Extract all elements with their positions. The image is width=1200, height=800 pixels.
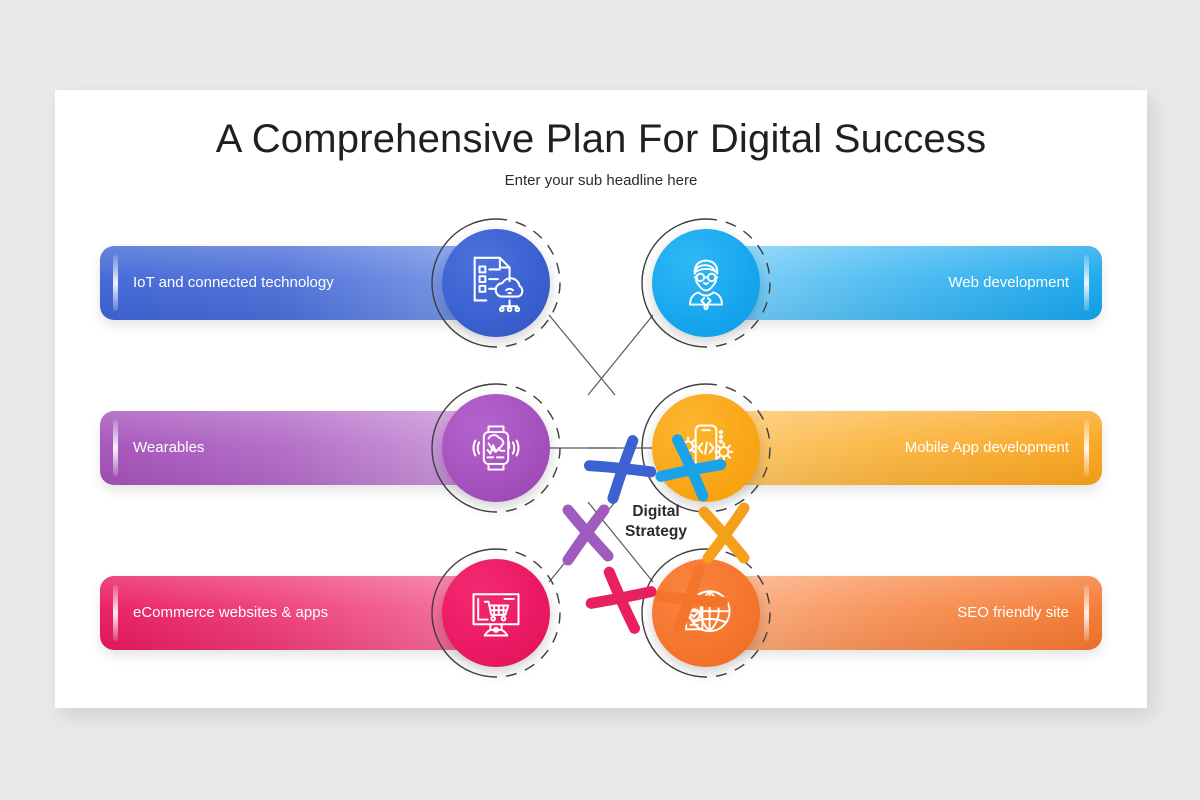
- hub-label-line1: Digital: [536, 502, 776, 522]
- node-disc-wearables: [442, 394, 550, 502]
- node-iot[interactable]: [431, 218, 561, 348]
- node-disc-ecommerce: [442, 559, 550, 667]
- smartwatch-icon: [442, 394, 550, 502]
- bar-accent-stripe: [113, 585, 118, 641]
- hub-label: Digital Strategy: [536, 502, 776, 542]
- petal-pink: [591, 569, 654, 629]
- page-subtitle: Enter your sub headline here: [55, 172, 1147, 189]
- petal-orange: [659, 568, 722, 628]
- node-disc-web: [652, 229, 760, 337]
- bar-accent-stripe: [1084, 585, 1089, 641]
- node-web[interactable]: [641, 218, 771, 348]
- node-disc-iot: [442, 229, 550, 337]
- bar-accent-stripe: [1084, 255, 1089, 311]
- document-cloud-iot-icon: [442, 229, 550, 337]
- page-title: A Comprehensive Plan For Digital Success: [55, 117, 1147, 162]
- bar-label-iot: IoT and connected technology: [133, 246, 334, 320]
- hub-label-line2: Strategy: [536, 522, 776, 542]
- slide-card: A Comprehensive Plan For Digital Success…: [55, 90, 1147, 708]
- bar-label-ecommerce: eCommerce websites & apps: [133, 576, 328, 650]
- bar-label-wearables: Wearables: [133, 411, 204, 485]
- petal-cyan: [657, 440, 720, 500]
- bar-accent-stripe: [113, 255, 118, 311]
- bar-accent-stripe: [1084, 420, 1089, 476]
- row-top: IoT and connected technology: [55, 218, 1147, 348]
- bar-label-web: Web development: [948, 246, 1069, 320]
- petal-blue: [589, 441, 652, 501]
- bar-label-mobile: Mobile App development: [905, 411, 1069, 485]
- hub-digital-strategy: Digital Strategy: [536, 414, 776, 654]
- bar-label-seo: SEO friendly site: [957, 576, 1069, 650]
- monitor-cart-icon: [442, 559, 550, 667]
- developer-person-icon: [652, 229, 760, 337]
- bar-accent-stripe: [113, 420, 118, 476]
